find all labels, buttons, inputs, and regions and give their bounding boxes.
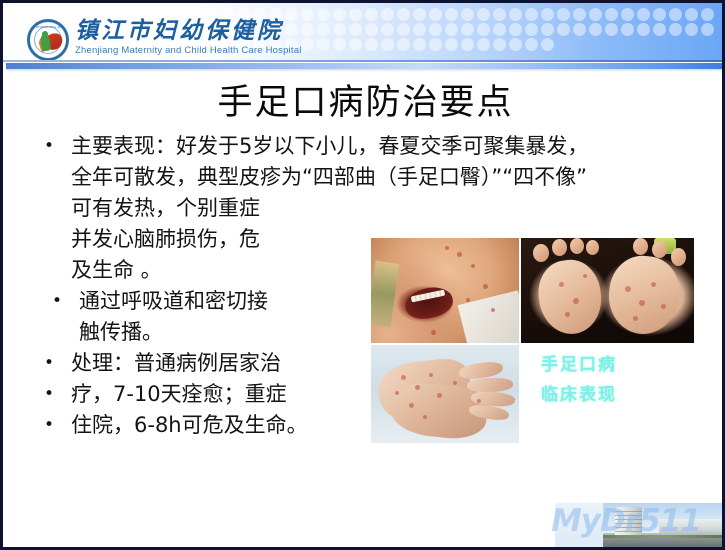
dot	[621, 23, 634, 36]
photo-detail	[605, 252, 684, 338]
dot	[557, 8, 570, 21]
blue-divider-shadow	[6, 69, 725, 72]
photo-detail	[429, 373, 433, 377]
dot	[429, 38, 442, 51]
dot	[477, 8, 490, 21]
dot	[653, 8, 666, 21]
dot	[669, 23, 682, 36]
dot	[413, 23, 426, 36]
dot	[429, 8, 442, 21]
photo-detail	[671, 248, 686, 266]
logo-ring-text: ZHENJIANG MATERNITY	[36, 25, 66, 33]
dot	[509, 8, 522, 21]
mouth-ulcer-photo	[371, 238, 519, 343]
dot	[493, 8, 506, 21]
presentation-slide: ZHENJIANG MATERNITY 镇江市妇幼保健院 Zhenjiang M…	[0, 0, 725, 550]
bullet-text: 可有发热，个别重症	[71, 193, 260, 224]
collage-caption-line2: 临床表现	[541, 380, 691, 410]
photo-detail	[633, 238, 648, 255]
bullet-marker: •	[33, 379, 65, 410]
dot	[541, 23, 554, 36]
dot	[589, 8, 602, 21]
bullet-text: 并发心脑肺损伤，危	[71, 224, 260, 255]
dot	[541, 38, 554, 51]
photo-detail	[633, 316, 638, 321]
dot	[605, 23, 618, 36]
dot	[413, 8, 426, 21]
dot	[381, 23, 394, 36]
dot	[461, 38, 474, 51]
dot	[573, 8, 586, 21]
bullet-text: 触传播。	[79, 317, 163, 348]
dot	[477, 38, 490, 51]
dot	[701, 8, 714, 21]
hospital-name-en: Zhenjiang Maternity and Child Health Car…	[75, 45, 375, 57]
photo-detail	[625, 286, 631, 292]
photo-detail	[431, 330, 436, 335]
photo-detail	[423, 415, 427, 419]
bullet-text: 及生命 。	[71, 255, 162, 286]
dot	[685, 23, 698, 36]
dot	[397, 38, 410, 51]
bullet-text: 疗，7-10天痊愈；重症	[71, 379, 287, 410]
dot	[445, 8, 458, 21]
photo-detail	[437, 393, 442, 398]
dot	[525, 23, 538, 36]
hospital-brand: 镇江市妇幼保健院 Zhenjiang Maternity and Child H…	[75, 17, 375, 57]
photo-detail	[415, 385, 420, 390]
collage-caption: 手足口病 临床表现	[541, 350, 691, 410]
dot	[653, 23, 666, 36]
photo-detail	[402, 283, 455, 322]
dot	[637, 8, 650, 21]
dot	[669, 8, 682, 21]
bullet-text: 通过呼吸道和密切接	[79, 286, 268, 317]
photo-detail	[483, 284, 488, 289]
clinical-photo-collage: 手足口病 临床表现	[371, 238, 694, 443]
dot	[701, 23, 714, 36]
hand-rash-photo	[371, 345, 519, 443]
dot	[525, 8, 538, 21]
photo-detail	[534, 256, 606, 338]
photo-detail	[477, 399, 481, 403]
dot	[589, 23, 602, 36]
dot	[573, 23, 586, 36]
photo-detail	[573, 298, 579, 304]
hospital-name-cn: 镇江市妇幼保健院	[75, 17, 375, 44]
photo-detail	[467, 377, 513, 393]
bullet-line-continuation: 全年可散发，典型皮疹为“四部曲（手足口臀）”“四不像”	[33, 162, 723, 193]
bullet-line-continuation: 可有发热，个别重症	[33, 193, 723, 224]
dot	[477, 23, 490, 36]
photo-detail	[453, 381, 457, 385]
slide-header: ZHENJIANG MATERNITY 镇江市妇幼保健院 Zhenjiang M…	[3, 3, 725, 61]
collage-caption-line1: 手足口病	[541, 350, 691, 380]
dot	[493, 23, 506, 36]
footer-accent-block	[555, 503, 603, 550]
bullet-line: • 主要表现：好发于5岁以下小儿，春夏交季可聚集暴发，	[33, 131, 723, 162]
dot	[541, 8, 554, 21]
photo-detail	[401, 375, 406, 380]
hospital-building-photo	[603, 503, 725, 550]
dot	[381, 8, 394, 21]
slide-title: 手足口病防治要点	[3, 82, 725, 124]
photo-detail	[466, 298, 470, 302]
photo-detail	[583, 274, 587, 278]
photo-detail	[409, 403, 414, 408]
dot	[493, 38, 506, 51]
dot	[461, 23, 474, 36]
photo-detail	[570, 238, 584, 254]
photo-detail	[615, 507, 642, 537]
dot	[381, 38, 394, 51]
dot	[525, 38, 538, 51]
dot	[429, 23, 442, 36]
photo-detail	[457, 252, 462, 257]
photo-detail	[471, 264, 475, 268]
photo-detail	[371, 261, 399, 328]
dot	[445, 38, 458, 51]
dot	[461, 8, 474, 21]
photo-detail	[603, 538, 725, 550]
photo-detail	[661, 304, 666, 309]
feet-rash-photo	[521, 238, 694, 343]
photo-detail	[639, 300, 645, 306]
bullet-text: 主要表现：好发于5岁以下小儿，春夏交季可聚集暴发，	[71, 131, 588, 162]
dot	[397, 23, 410, 36]
bullet-marker: •	[33, 410, 65, 441]
bullet-text: 处理：普通病例居家治	[71, 348, 281, 379]
photo-detail	[395, 391, 399, 395]
dot	[509, 23, 522, 36]
bullet-marker: •	[41, 286, 73, 317]
bullet-marker: •	[33, 348, 65, 379]
photo-detail	[565, 312, 570, 317]
dot	[557, 23, 570, 36]
bullet-text: 全年可散发，典型皮疹为“四部曲（手足口臀）”“四不像”	[71, 162, 587, 193]
photo-detail	[491, 308, 495, 312]
bullet-marker: •	[33, 131, 65, 162]
hospital-logo-icon: ZHENJIANG MATERNITY	[27, 19, 69, 61]
dot	[605, 8, 618, 21]
bullet-text: 住院，6-8h可危及生命。	[71, 410, 308, 441]
photo-detail	[552, 239, 567, 256]
dot	[397, 8, 410, 21]
photo-detail	[559, 282, 564, 287]
photo-detail	[586, 240, 599, 255]
photo-detail	[651, 282, 656, 287]
dot	[509, 38, 522, 51]
dot	[413, 38, 426, 51]
photo-detail	[445, 246, 449, 250]
photo-detail	[652, 241, 667, 258]
header-underline	[3, 60, 725, 62]
dot	[685, 8, 698, 21]
dot	[637, 23, 650, 36]
photo-detail	[533, 244, 549, 262]
dot	[621, 8, 634, 21]
dot	[445, 23, 458, 36]
